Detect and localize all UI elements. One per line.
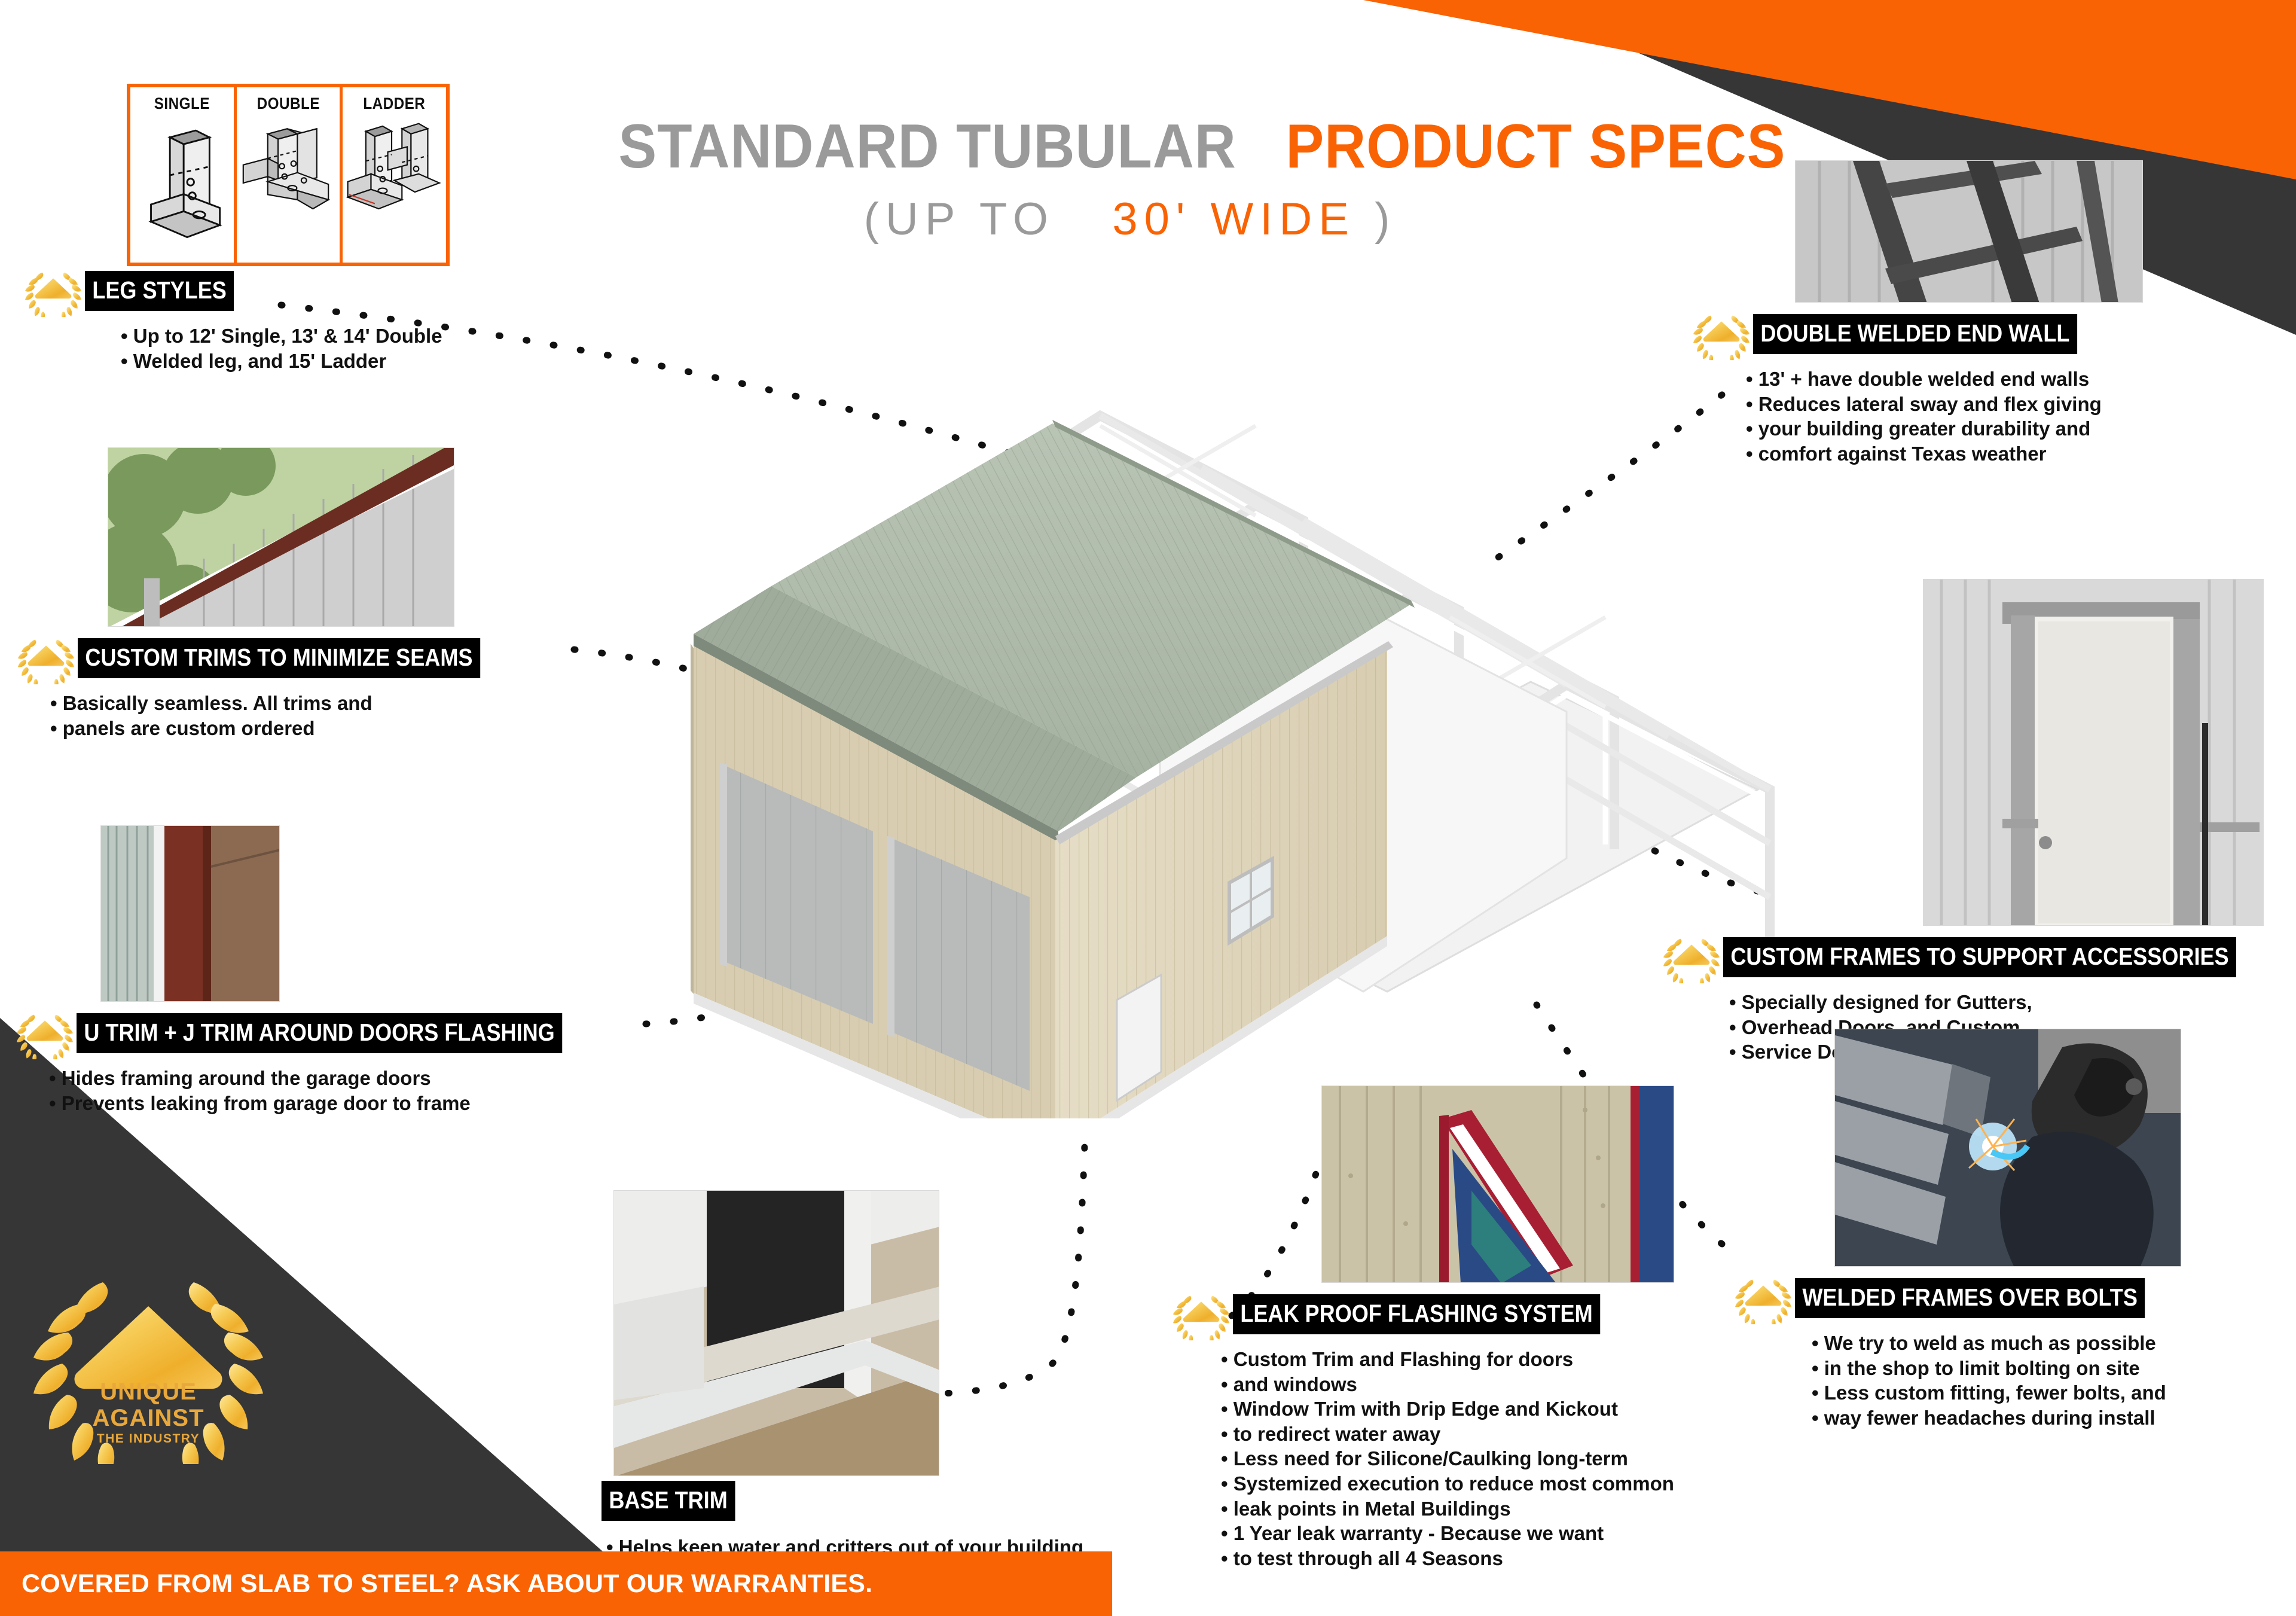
list-item: Prevents leaking from garage door to fra… [49,1091,673,1115]
list-item: We try to weld as much as possible [1812,1331,2296,1355]
bullet-list-double-welded-end-wall: 13' + have double welded end walls Reduc… [1746,367,2296,465]
bullet-list-custom-trims: Basically seamless. All trims and panels… [50,691,603,740]
list-item: in the shop to limit bolting on site [1812,1356,2296,1380]
isometric-metal-building-illustration [514,263,1842,1118]
list-item: panels are custom ordered [50,716,603,740]
list-item: Welded leg, and 15' Ladder [121,349,562,373]
unique-against-industry-badge-icon [1662,929,1721,984]
list-item: Reduces lateral sway and flex giving [1746,392,2296,416]
title-line2-orange: 30' WIDE [1112,194,1355,245]
list-item: Basically seamless. All trims and [50,691,603,715]
page-title: STANDARD TUBULAR PRODUCT SPECS (UP TO 30… [574,117,1686,245]
photo-welded-frames-over-bolts [1834,1029,2181,1267]
section-heading-custom-trims: CUSTOM TRIMS TO MINIMIZE SEAMS [78,638,480,678]
brand-logo: UNIQUE AGAINST THE INDUSTRY [29,1243,268,1470]
unique-against-industry-badge-icon [24,263,83,318]
double-tube-leg-icon [237,118,340,215]
logo-line-unique: UNIQUE [100,1380,197,1404]
single-tube-leg-icon [130,118,234,248]
unique-against-industry-badge-icon [1692,306,1751,361]
bullet-list-u-trim-j-trim: Hides framing around the garage doors Pr… [49,1066,673,1115]
leg-style-cell-double: DOUBLE [237,87,343,263]
leg-styles-specimen-box: SINGLE DOUBLE LADDER [127,84,450,266]
leg-style-cell-ladder: LADDER [343,87,446,263]
bullet-list-welded-frames-over-bolts: We try to weld as much as possible in th… [1812,1331,2296,1429]
section-heading-u-trim-j-trim: U TRIM + J TRIM AROUND DOORS FLASHING [77,1013,562,1053]
photo-base-trim [613,1190,939,1476]
ladder-tube-leg-icon [343,118,446,215]
leg-style-label-single: SINGLE [136,94,228,113]
section-u-trim-j-trim: U TRIM + J TRIM AROUND DOORS FLASHING Hi… [16,825,673,1116]
footer-cta-bar[interactable]: COVERED FROM SLAB TO STEEL? ASK ABOUT OU… [0,1551,1112,1616]
leg-style-label-double: DOUBLE [242,94,334,113]
list-item: comfort against Texas weather [1746,442,2296,466]
unique-against-industry-badge-icon [1172,1286,1231,1341]
leg-style-label-ladder: LADDER [348,94,441,113]
section-heading-double-welded-end-wall: DOUBLE WELDED END WALL [1753,314,2077,354]
title-line1-grey: STANDARD TUBULAR [618,112,1236,181]
footer-cta-text: COVERED FROM SLAB TO STEEL? ASK ABOUT OU… [0,1569,872,1599]
list-item: to test through all 4 Seasons [1221,1547,1842,1571]
list-item: Less need for Silicone/Caulking long-ter… [1221,1447,1842,1471]
list-item: your building greater durability and [1746,417,2296,441]
list-item: Less custom fitting, fewer bolts, and [1812,1381,2296,1405]
unique-against-industry-badge-icon [16,1005,74,1060]
section-base-trim: BASE TRIM Helps keep water and critters … [598,1190,1196,1610]
section-welded-frames-over-bolts: WELDED FRAMES OVER BOLTS We try to weld … [1734,1029,2296,1431]
title-line2-open: (UP TO [864,194,1055,245]
section-heading-leak-proof-flashing: LEAK PROOF FLASHING SYSTEM [1233,1294,1600,1334]
leg-style-cell-single: SINGLE [130,87,237,263]
title-line2-close: ) [1375,194,1396,245]
photo-custom-frames-accessories [1923,579,2264,926]
photo-custom-trims [108,447,454,627]
list-item: way fewer headaches during install [1812,1406,2296,1430]
photo-leak-proof-flashing [1321,1086,1674,1283]
section-heading-base-trim: BASE TRIM [602,1481,735,1521]
unique-against-industry-badge-icon [17,630,75,685]
list-item: 1 Year leak warranty - Because we want [1221,1522,1842,1545]
photo-double-welded-end-wall [1795,160,2143,303]
list-item: leak points in Metal Buildings [1221,1497,1842,1521]
unique-against-industry-badge-icon [1734,1270,1793,1325]
list-item: Hides framing around the garage doors [49,1066,673,1090]
section-heading-leg-styles: LEG STYLES [85,271,234,311]
list-item: 13' + have double welded end walls [1746,367,2296,391]
bullet-list-leg-styles: Up to 12' Single, 13' & 14' Double Welde… [121,324,562,373]
section-double-welded-end-wall: DOUBLE WELDED END WALL 13' + have double… [1692,160,2296,466]
photo-u-trim-j-trim [100,825,280,1002]
list-item: Up to 12' Single, 13' & 14' Double [121,324,562,348]
logo-line-industry: THE INDUSTRY [97,1432,200,1445]
section-heading-welded-frames-over-bolts: WELDED FRAMES OVER BOLTS [1795,1278,2145,1318]
section-heading-custom-frames-accessories: CUSTOM FRAMES TO SUPPORT ACCESSORIES [1723,937,2236,977]
section-leg-styles: LEG STYLES Up to 12' Single, 13' & 14' D… [24,263,562,374]
list-item: Systemized execution to reduce most comm… [1221,1472,1842,1496]
section-custom-frames-accessories: CUSTOM FRAMES TO SUPPORT ACCESSORIES Spe… [1662,579,2296,1065]
section-custom-trims: CUSTOM TRIMS TO MINIMIZE SEAMS Basically… [17,447,603,741]
list-item: Specially designed for Gutters, [1729,990,2296,1014]
logo-line-against: AGAINST [93,1406,204,1430]
